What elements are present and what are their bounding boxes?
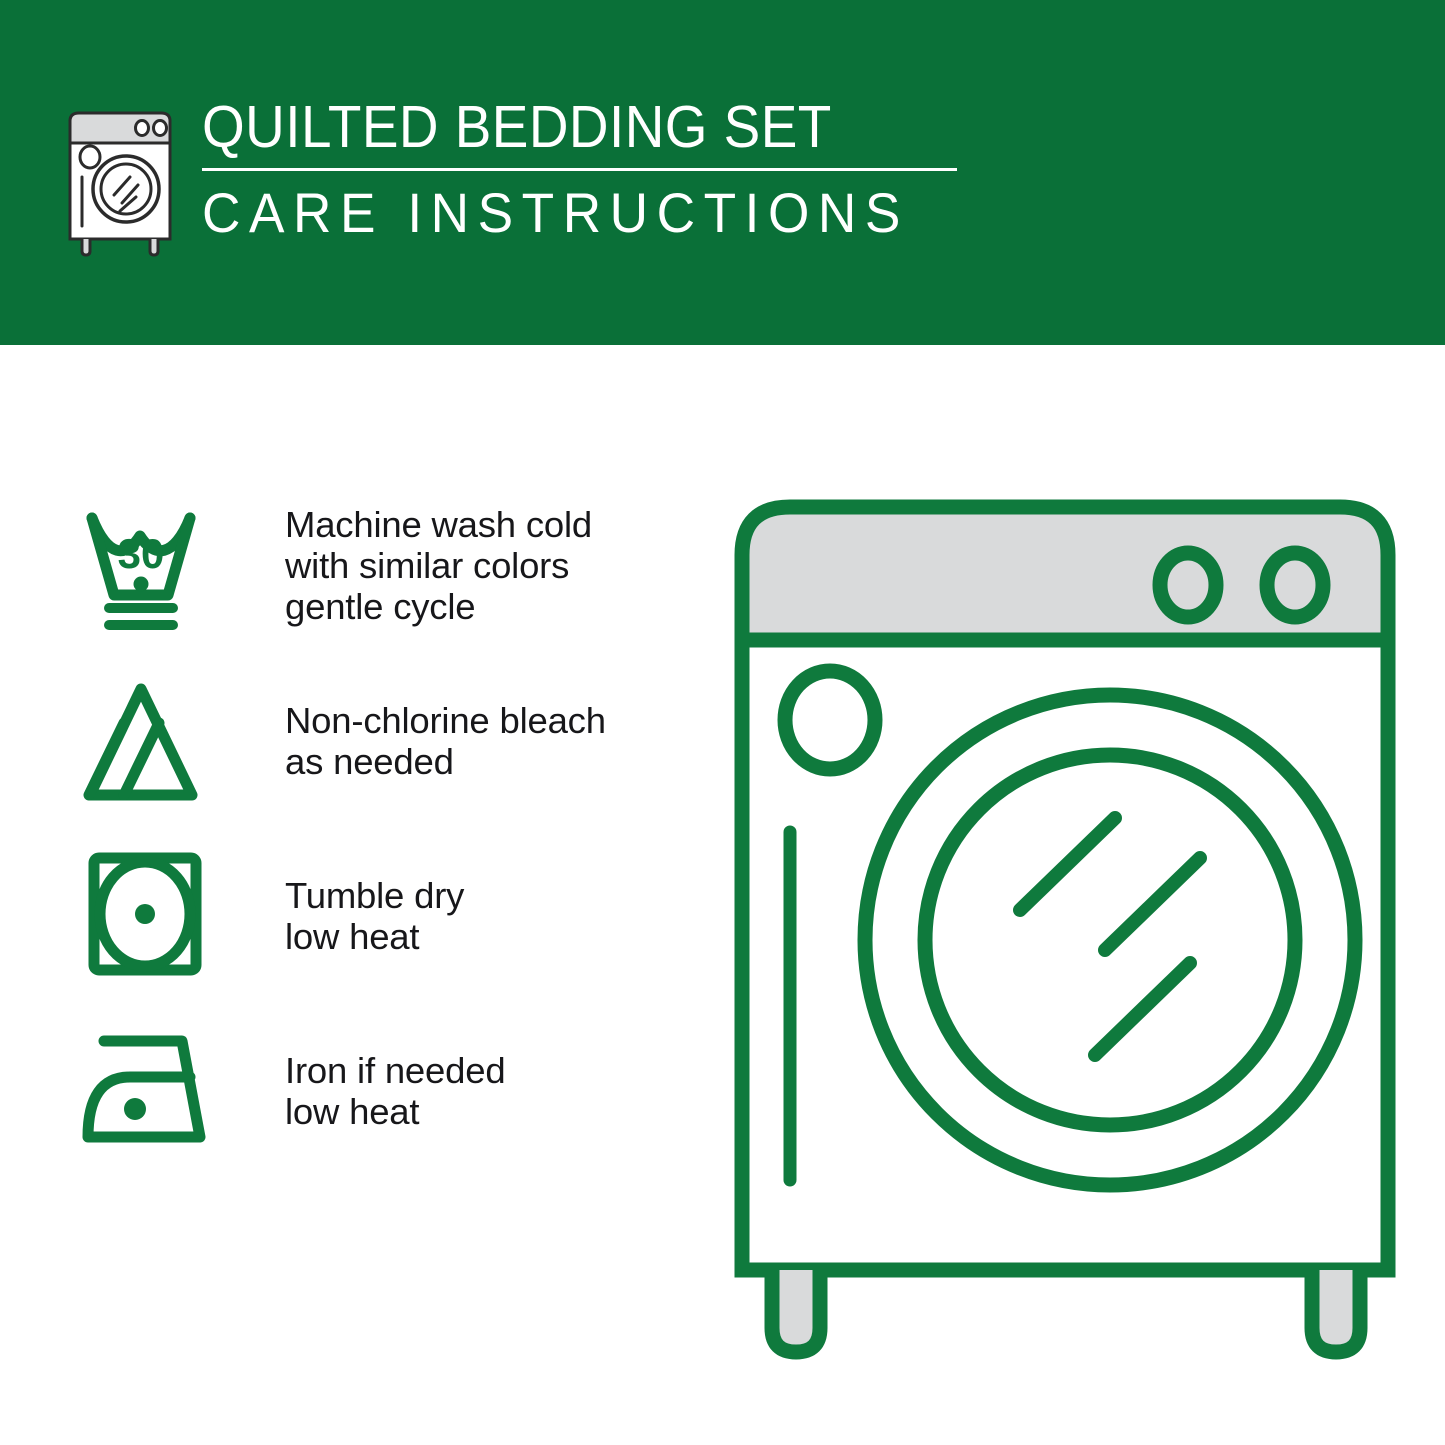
tumble-dry-heat-dot	[135, 904, 155, 924]
care-row-tumble-dry: Tumble dry low heat	[70, 828, 690, 1003]
header-content: QUILTED BEDDING SET CARE INSTRUCTIONS	[60, 95, 990, 270]
care-instruction-list: 30 Machine wash cold with similar colors…	[70, 478, 690, 1178]
front-load-washing-machine-illustration	[715, 480, 1415, 1370]
care-label-line: with similar colors	[285, 545, 690, 586]
dispenser-circle	[785, 671, 875, 769]
header-titles: QUILTED BEDDING SET CARE INSTRUCTIONS	[202, 95, 990, 242]
care-label-line: Tumble dry	[285, 875, 690, 916]
care-label-line: Iron if needed	[285, 1050, 690, 1091]
page-subtitle: CARE INSTRUCTIONS	[202, 184, 951, 242]
control-knob-1	[1160, 553, 1216, 617]
care-label-iron: Iron if needed low heat	[235, 1050, 690, 1132]
care-label-line: Non-chlorine bleach	[285, 700, 690, 741]
care-label-tumble-dry: Tumble dry low heat	[235, 875, 690, 957]
wash-tub-30-icon: 30	[70, 491, 235, 641]
care-row-iron: Iron if needed low heat	[70, 1003, 690, 1178]
care-label-line: Machine wash cold	[285, 504, 690, 545]
control-knob-2	[1267, 553, 1323, 617]
care-label-line: low heat	[285, 916, 690, 957]
title-divider	[202, 168, 957, 171]
care-row-machine-wash: 30 Machine wash cold with similar colors…	[70, 478, 690, 653]
iron-low-heat-icon	[70, 1016, 235, 1166]
machine-leg-right	[1312, 1270, 1360, 1352]
tumble-dry-low-icon	[70, 841, 235, 991]
wash-temperature-label: 30	[117, 530, 164, 577]
page-title: QUILTED BEDDING SET	[202, 97, 935, 157]
care-label-machine-wash: Machine wash cold with similar colors ge…	[235, 504, 690, 627]
care-label-line: gentle cycle	[285, 586, 690, 627]
care-label-line: as needed	[285, 741, 690, 782]
washing-machine-icon	[60, 99, 180, 259]
care-label-line: low heat	[285, 1091, 690, 1132]
care-label-bleach: Non-chlorine bleach as needed	[235, 700, 690, 782]
care-row-bleach: Non-chlorine bleach as needed	[70, 653, 690, 828]
wash-temperature-dot	[133, 576, 148, 591]
iron-heat-dot	[124, 1098, 146, 1120]
care-instructions-poster: QUILTED BEDDING SET CARE INSTRUCTIONS	[0, 0, 1445, 1445]
non-chlorine-bleach-triangle-icon	[70, 666, 235, 816]
header-band: QUILTED BEDDING SET CARE INSTRUCTIONS	[0, 0, 1445, 345]
machine-leg-left	[772, 1270, 820, 1352]
